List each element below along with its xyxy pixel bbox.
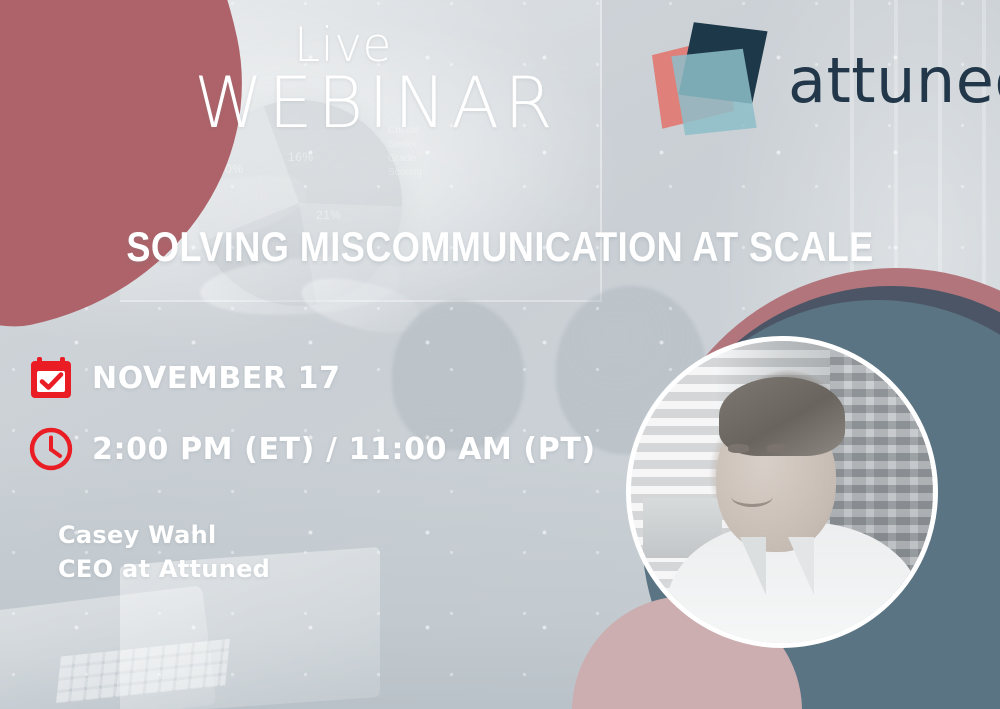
speaker-avatar: [626, 336, 938, 648]
webinar-time-label: 2:00 PM (ET) / 11:00 AM (PT): [92, 432, 596, 467]
webinar-promo-poster: 30% 16% 21% Critical Senior Grade Scorin…: [0, 0, 1000, 709]
webinar-date-row: NOVEMBER 17: [28, 355, 341, 401]
photo-collar-left: [740, 537, 766, 595]
photo-collar-right: [788, 537, 814, 595]
attuned-wordmark: attuned: [788, 50, 1000, 112]
speaker-block: Casey Wahl CEO at Attuned: [58, 518, 270, 586]
photo-eye-left: [728, 444, 749, 453]
speaker-name: Casey Wahl: [58, 518, 270, 552]
calendar-check-icon: [28, 355, 74, 401]
speaker-photo: [631, 341, 933, 643]
webinar-time-row: 2:00 PM (ET) / 11:00 AM (PT): [28, 426, 596, 472]
attuned-logo: attuned: [654, 22, 964, 140]
kicker-webinar: WEBINAR: [194, 68, 558, 138]
photo-eye-right: [767, 444, 788, 453]
logo-square-teal: [671, 49, 757, 136]
webinar-date-label: NOVEMBER 17: [92, 361, 341, 396]
photo-smile: [731, 486, 773, 507]
page-title: SOLVING MISCOMMUNICATION AT SCALE: [70, 226, 930, 268]
attuned-logo-mark-icon: [654, 24, 772, 138]
clock-icon: [28, 426, 74, 472]
speaker-title: CEO at Attuned: [58, 552, 270, 586]
